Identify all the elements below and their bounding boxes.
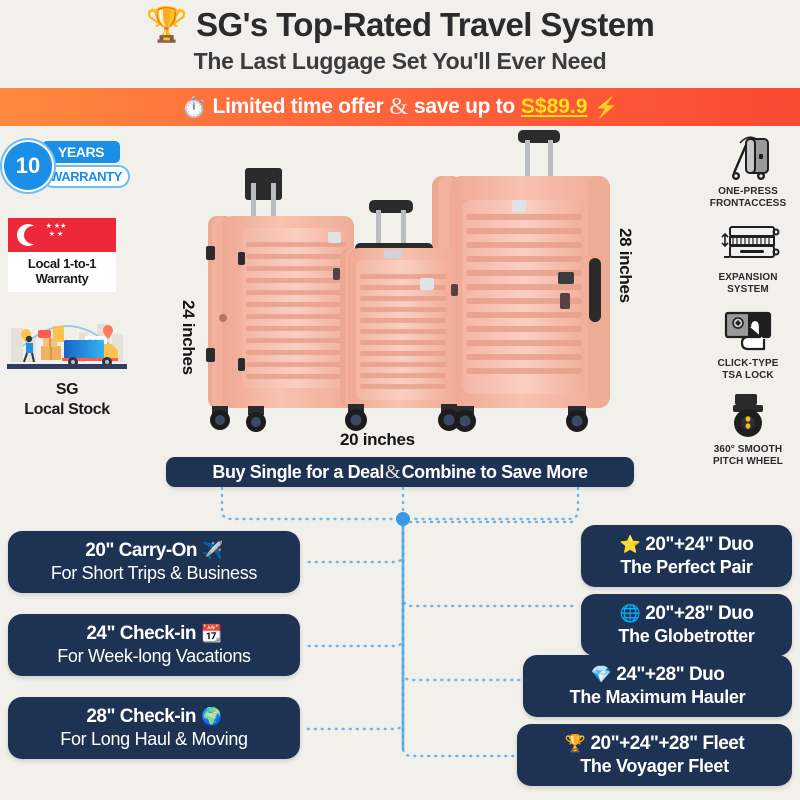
delivery-truck-illustration xyxy=(7,302,127,376)
local-warranty-line2: Warranty xyxy=(10,271,114,286)
promo-text-before: Limited time offer xyxy=(213,95,384,119)
option-card-20-carry-on[interactable]: 20" Carry-On ✈️ For Short Trips & Busine… xyxy=(8,531,300,593)
local-stock-line1: SG xyxy=(4,380,130,400)
left-badge-column: YEARS WARRANTY 10 ★ ★★★ ★ Local 1-to-1 W… xyxy=(0,130,140,450)
feature-expansion-system: EXPANSION SYSTEM xyxy=(696,218,800,296)
option-card-24-check-in[interactable]: 24" Check-in 📆 For Week-long Vacations xyxy=(8,614,300,676)
infographic-page: 🏆 SG's Top-Rated Travel System The Last … xyxy=(0,0,800,800)
option-card-subtitle: For Long Haul & Moving xyxy=(60,729,248,750)
combo-card-title: 🏆 20"+24"+28" Fleet xyxy=(565,733,744,755)
feature-label: ONE-PRESS FRONTACCESS xyxy=(696,186,800,210)
combo-card-title: 🌐 20"+28" Duo xyxy=(620,603,754,625)
option-card-title: 20" Carry-On ✈️ xyxy=(85,540,222,562)
warranty-word-label: WARRANTY xyxy=(42,165,130,188)
tsa-lock-icon xyxy=(696,304,800,356)
promo-price: S$89.9 xyxy=(521,95,588,119)
page-subtitle: The Last Luggage Set You'll Ever Need xyxy=(194,48,607,75)
combo-card-subtitle: The Voyager Fleet xyxy=(580,756,729,777)
calendar-icon: 📆 xyxy=(201,624,222,644)
page-title: SG's Top-Rated Travel System xyxy=(196,6,654,44)
luggage-24 xyxy=(206,168,354,432)
stopwatch-icon: ⏱️ xyxy=(182,95,207,120)
local-stock-badge: SG Local Stock xyxy=(4,302,130,420)
promo-text-after: save up to xyxy=(414,95,515,119)
warranty-years-number: 10 xyxy=(4,142,52,190)
high-voltage-icon: ⚡ xyxy=(593,95,618,120)
connector-hub-node xyxy=(396,512,410,526)
option-title-text: 24" Check-in xyxy=(86,623,196,645)
feature-label: EXPANSION SYSTEM xyxy=(696,272,800,296)
globe-earth-icon: 🌍 xyxy=(201,707,222,727)
promo-banner: ⏱️ Limited time offer & save up to S$89.… xyxy=(0,88,800,126)
title-row: 🏆 SG's Top-Rated Travel System xyxy=(146,6,654,44)
combo-card-20-24-duo[interactable]: ⭐ 20"+24" Duo The Perfect Pair xyxy=(581,525,792,587)
dimension-label-20: 20 inches xyxy=(340,430,415,450)
combo-card-subtitle: The Perfect Pair xyxy=(620,557,752,578)
combo-title-text: 20"+28" Duo xyxy=(645,603,753,625)
combo-card-24-28-duo[interactable]: 💎 24"+28" Duo The Maximum Hauler xyxy=(523,655,792,717)
local-warranty-badge: ★ ★★★ ★ Local 1-to-1 Warranty xyxy=(8,218,116,292)
singapore-flag-icon: ★ ★★★ ★ xyxy=(8,218,116,252)
globe-meridians-icon: 🌐 xyxy=(620,604,641,624)
feature-tsa-lock: CLICK-TYPE TSA LOCK xyxy=(696,304,800,382)
combo-card-20-28-duo[interactable]: 🌐 20"+28" Duo The Globetrotter xyxy=(581,594,792,656)
dimension-label-28: 28 inches xyxy=(615,228,635,303)
combo-card-title: 💎 24"+28" Duo xyxy=(591,664,725,686)
local-warranty-caption: Local 1-to-1 Warranty xyxy=(8,252,116,292)
local-stock-line2: Local Stock xyxy=(4,400,130,420)
option-title-text: 20" Carry-On xyxy=(85,540,197,562)
local-stock-caption: SG Local Stock xyxy=(4,380,130,420)
gem-icon: 💎 xyxy=(591,665,612,685)
warranty-years-label: YEARS xyxy=(42,141,120,163)
combo-card-subtitle: The Maximum Hauler xyxy=(570,687,746,708)
spinner-wheel-icon xyxy=(696,390,800,442)
luggage-product-stage: 24 inches 28 inches 20 inches xyxy=(150,128,670,458)
luggage-set-image xyxy=(150,128,670,458)
feature-icon-column: ONE-PRESS FRONTACCESS xyxy=(696,132,800,476)
feature-label-line2: TSA LOCK xyxy=(696,370,800,382)
option-card-subtitle: For Short Trips & Business xyxy=(51,563,257,584)
feature-label-line1: CLICK-TYPE xyxy=(696,358,800,370)
dimension-label-24: 24 inches xyxy=(178,300,198,375)
feature-label-line1: ONE-PRESS xyxy=(696,186,800,198)
star-icon: ⭐ xyxy=(620,535,641,555)
option-title-text: 28" Check-in xyxy=(86,706,196,728)
feature-one-press-front-access: ONE-PRESS FRONTACCESS xyxy=(696,132,800,210)
combo-title-text: 20"+24"+28" Fleet xyxy=(590,733,744,755)
expansion-system-icon xyxy=(696,218,800,270)
combo-card-full-fleet[interactable]: 🏆 20"+24"+28" Fleet The Voyager Fleet xyxy=(517,724,792,786)
airplane-icon: ✈️ xyxy=(202,541,223,561)
feature-label: CLICK-TYPE TSA LOCK xyxy=(696,358,800,382)
local-warranty-line1: Local 1-to-1 xyxy=(10,256,114,271)
combo-card-title: ⭐ 20"+24" Duo xyxy=(620,534,754,556)
promo-ampersand: & xyxy=(389,94,408,121)
option-card-subtitle: For Week-long Vacations xyxy=(57,646,251,667)
luggage-28 xyxy=(432,130,610,432)
combo-card-subtitle: The Globetrotter xyxy=(618,626,754,647)
trophy-icon: 🏆 xyxy=(146,8,188,42)
trophy-icon: 🏆 xyxy=(565,734,586,754)
option-card-title: 24" Check-in 📆 xyxy=(86,623,221,645)
feature-label-line1: EXPANSION xyxy=(696,272,800,284)
page-header: 🏆 SG's Top-Rated Travel System The Last … xyxy=(0,0,800,88)
warranty-badge: YEARS WARRANTY 10 xyxy=(4,140,130,192)
feature-label-line2: FRONTACCESS xyxy=(696,198,800,210)
combo-title-text: 20"+24" Duo xyxy=(645,534,753,556)
combo-title-text: 24"+28" Duo xyxy=(616,664,724,686)
feature-label-line2: SYSTEM xyxy=(696,284,800,296)
option-card-28-check-in[interactable]: 28" Check-in 🌍 For Long Haul & Moving xyxy=(8,697,300,759)
suitcase-front-access-icon xyxy=(696,132,800,184)
option-card-title: 28" Check-in 🌍 xyxy=(86,706,221,728)
